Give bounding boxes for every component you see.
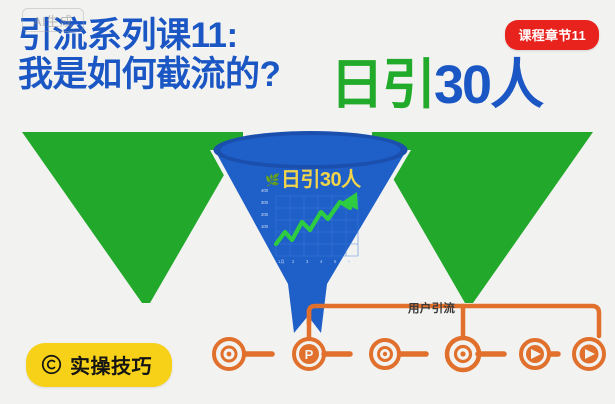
svg-text:2: 2 xyxy=(292,259,295,264)
flow-node-target-1 xyxy=(214,339,244,369)
headline-emphasis: 日引30人 xyxy=(330,58,542,112)
chapter-badge[interactable]: 课程章节11 xyxy=(505,20,599,50)
svg-text:200: 200 xyxy=(261,212,269,217)
chapter-badge-label: 课程章节11 xyxy=(518,28,586,43)
svg-text:1月: 1月 xyxy=(278,259,285,265)
flow-node-pinterest: P xyxy=(294,339,324,369)
skill-badge-label: 实操技巧 xyxy=(70,350,152,379)
svg-text:P: P xyxy=(305,347,314,362)
svg-text:5: 5 xyxy=(334,259,337,264)
svg-text:6: 6 xyxy=(348,259,351,264)
svg-text:100: 100 xyxy=(261,224,269,229)
flow-diagram-label: 用户引流 xyxy=(408,300,455,316)
headline-emphasis-green: 日引 xyxy=(330,55,434,115)
flow-node-target-2 xyxy=(371,340,399,368)
headline-line-2: 我是如何截流的? xyxy=(18,57,280,94)
headline-emphasis-blue: 30人 xyxy=(434,55,542,115)
flow-node-play-2 xyxy=(574,339,604,369)
headline-block: 引流系列课11: 我是如何截流的? xyxy=(18,18,280,94)
flow-node-target-3 xyxy=(447,338,479,370)
funnel-caption: 🌿日引30人 xyxy=(233,163,393,192)
growth-line-chart: 400 300 200 100 1月 2 3 4 5 6 xyxy=(258,188,363,268)
svg-text:3: 3 xyxy=(306,259,309,264)
poster-canvas: AI生成 🌿日引30人 xyxy=(0,0,615,404)
copyright-icon xyxy=(41,354,62,375)
svg-text:300: 300 xyxy=(261,200,269,205)
skill-badge[interactable]: 实操技巧 xyxy=(26,343,172,387)
funnel-leaf-icon: 🌿 xyxy=(265,173,279,187)
headline-line-1: 引流系列课11: xyxy=(18,18,280,55)
flow-node-play-1 xyxy=(521,340,549,368)
funnel-caption-text: 日引30人 xyxy=(281,169,361,191)
svg-text:4: 4 xyxy=(320,259,323,264)
